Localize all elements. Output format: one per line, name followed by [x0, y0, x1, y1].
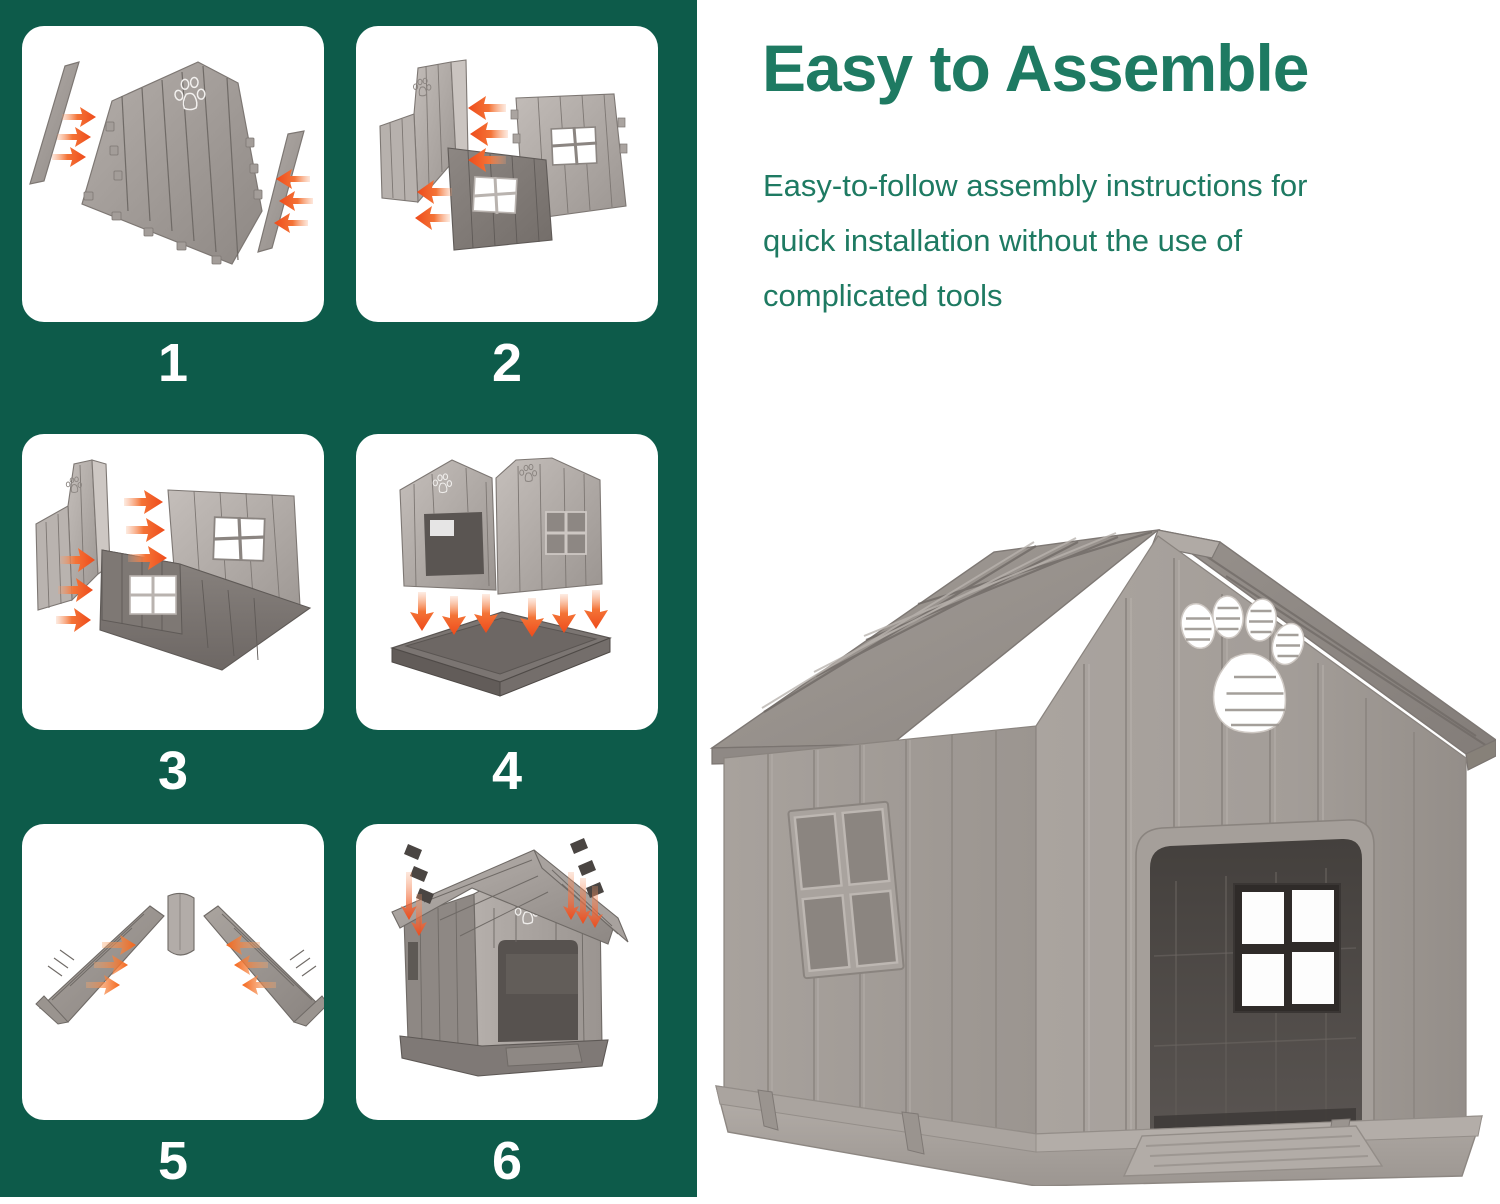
step-number: 2	[356, 324, 658, 402]
step-number: 3	[22, 732, 324, 810]
page-title: Easy to Assemble	[762, 28, 1462, 108]
assembly-steps-panel: 1	[0, 0, 697, 1197]
window	[546, 512, 586, 554]
step-2-card	[356, 26, 658, 322]
doorway	[1136, 820, 1374, 1157]
interior-window	[1234, 884, 1340, 1012]
step-item: 3	[22, 434, 324, 814]
steps-grid: 1	[0, 0, 697, 1197]
step-4-illustration	[356, 434, 658, 730]
step-6-card	[356, 824, 658, 1120]
side-vent	[408, 942, 418, 980]
step-item: 6	[356, 824, 658, 1204]
subtitle-line-1: Easy-to-follow assembly instructions for	[763, 158, 1468, 213]
step-number: 4	[356, 732, 658, 810]
right-rail	[258, 131, 304, 252]
step-3-illustration	[22, 434, 324, 730]
window	[213, 517, 265, 561]
front-wall	[1036, 536, 1466, 1157]
door-ramp	[506, 1044, 582, 1066]
left-side-wall	[724, 726, 1036, 1152]
arrow-group-right	[274, 169, 313, 233]
step-item: 4	[356, 434, 658, 814]
step-3-card	[22, 434, 324, 730]
step-5-card	[22, 824, 324, 1120]
subtitle-line-3: complicated tools	[763, 268, 1468, 323]
window	[551, 127, 597, 165]
step-number: 6	[356, 1122, 658, 1200]
side-wall-with-window	[496, 458, 602, 594]
dog-house-render	[706, 486, 1496, 1186]
step-number: 1	[22, 324, 324, 402]
ridge-cap	[168, 893, 194, 955]
step-item: 2	[356, 26, 658, 406]
step-1-card	[22, 26, 324, 322]
side-window	[788, 802, 904, 979]
step-1-illustration	[22, 26, 324, 322]
step-6-illustration	[356, 824, 658, 1120]
infographic-page: 1	[0, 0, 1500, 1197]
subtitle: Easy-to-follow assembly instructions for…	[763, 158, 1468, 323]
front-wall-panel	[82, 62, 262, 264]
step-4-card	[356, 434, 658, 730]
window	[130, 576, 176, 614]
step-number: 5	[22, 1122, 324, 1200]
step-item: 5	[22, 824, 324, 1204]
hero-product-image	[706, 486, 1496, 1186]
step-5-illustration	[22, 824, 324, 1120]
step-2-illustration	[356, 26, 658, 322]
window	[473, 177, 517, 214]
step-item: 1	[22, 26, 324, 406]
front-wall-with-doorway	[400, 460, 496, 590]
subtitle-line-2: quick installation without the use of	[763, 213, 1468, 268]
